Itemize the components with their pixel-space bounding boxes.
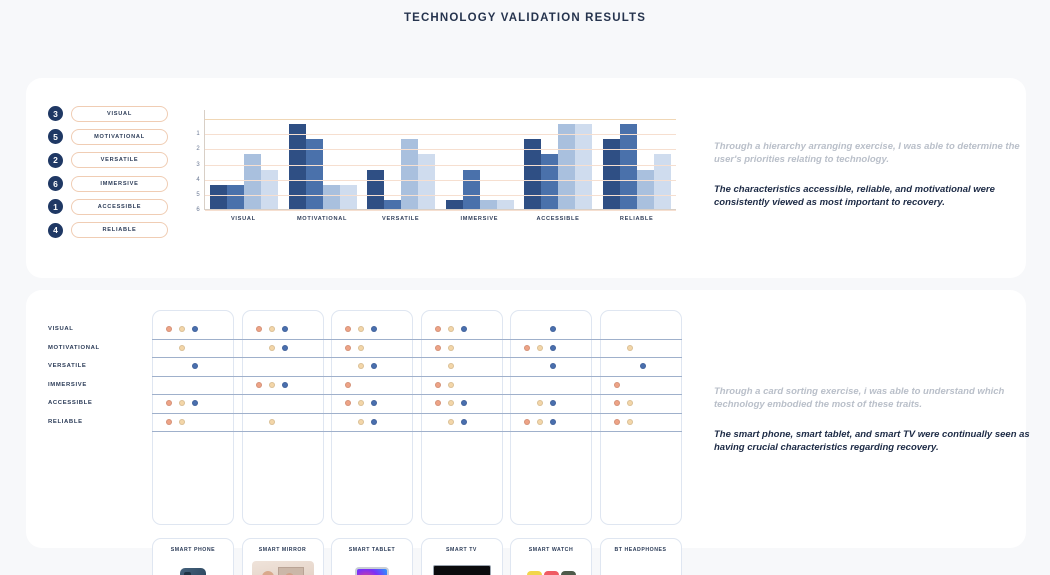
matrix-cell (524, 382, 556, 388)
card-sorting-results-card: VISUALMOTIVATIONALVERSATILEIMMERSIVEACCE… (26, 290, 1026, 548)
vote-dot-empty (614, 345, 620, 351)
x-axis-label: VERSATILE (361, 216, 440, 222)
vote-dot (550, 363, 556, 369)
x-axis-label: VISUAL (204, 216, 283, 222)
vote-dot (256, 382, 262, 388)
vote-dot-empty (640, 326, 646, 332)
vote-dot (282, 345, 288, 351)
vote-dot (524, 419, 530, 425)
vote-dot-empty (179, 382, 185, 388)
vote-dot (627, 419, 633, 425)
apple-watch-icon (527, 571, 576, 575)
product-image (339, 560, 405, 575)
vote-dot (269, 345, 275, 351)
vote-dot (345, 345, 351, 351)
vote-dot-empty (524, 326, 530, 332)
vote-dot (166, 326, 172, 332)
matrix-cell (166, 400, 198, 406)
television-icon (433, 565, 491, 575)
bar (210, 185, 227, 209)
product-name: BT HEADPHONES (614, 547, 666, 553)
x-axis-label: RELIABLE (597, 216, 676, 222)
trait-pill: VISUAL (71, 106, 168, 122)
vote-dot-empty (179, 363, 185, 369)
matrix-cell (614, 400, 646, 406)
vote-dot (640, 363, 646, 369)
matrix-cell (524, 419, 556, 425)
vote-dot (166, 419, 172, 425)
vote-dot (537, 419, 543, 425)
matrix-cell (256, 326, 288, 332)
matrix-cell (345, 363, 377, 369)
legend-row-visual: 3VISUAL (48, 102, 168, 125)
vote-dot-empty (627, 326, 633, 332)
matrix-row-divider (152, 394, 682, 395)
product-image (518, 560, 584, 575)
matrix-cell (614, 382, 646, 388)
chart-gridline (205, 210, 676, 211)
bar (289, 124, 306, 209)
vote-dot (461, 326, 467, 332)
trait-pill: MOTIVATIONAL (71, 129, 168, 145)
matrix-cell (435, 326, 467, 332)
vote-dot-empty (192, 345, 198, 351)
vote-dot (435, 345, 441, 351)
legend-row-reliable: 4RELIABLE (48, 218, 168, 241)
vote-dot (269, 382, 275, 388)
chart-y-tick: 1 (196, 131, 200, 137)
matrix-cell (614, 363, 646, 369)
bar (620, 124, 637, 209)
vote-dot-empty (192, 382, 198, 388)
chart-y-tick: 5 (196, 192, 200, 198)
matrix-cell (345, 326, 377, 332)
trait-pill: ACCESSIBLE (71, 199, 168, 215)
vote-dot-empty (269, 363, 275, 369)
vote-dot (614, 382, 620, 388)
vote-dot (371, 400, 377, 406)
matrix-row-label: RELIABLE (48, 413, 144, 432)
matrix-column[interactable] (510, 310, 592, 525)
matrix-row-label: IMMERSIVE (48, 376, 144, 395)
matrix-cell (435, 363, 467, 369)
x-axis-label: MOTIVATIONAL (283, 216, 362, 222)
rank-badge: 6 (48, 176, 63, 191)
matrix-row-divider (152, 413, 682, 414)
chart-plot-area: 123456 (204, 110, 676, 210)
x-axis-label: ACCESSIBLE (519, 216, 598, 222)
chart-y-tick: 3 (196, 162, 200, 168)
bar (227, 185, 244, 209)
vote-dot-empty (524, 400, 530, 406)
vote-dot-empty (166, 363, 172, 369)
product-card-smart-tv[interactable]: SMART TV (421, 538, 503, 575)
page-title: TECHNOLOGY VALIDATION RESULTS (0, 12, 1050, 24)
vote-dot-empty (640, 382, 646, 388)
vote-dot-empty (358, 382, 364, 388)
slide-canvas: TECHNOLOGY VALIDATION RESULTS 3VISUAL5MO… (0, 0, 1050, 575)
vote-dot (179, 400, 185, 406)
product-image (608, 560, 674, 575)
vote-dot-empty (524, 382, 530, 388)
vote-dot-empty (269, 400, 275, 406)
rank-badge: 2 (48, 153, 63, 168)
vote-dot-empty (282, 363, 288, 369)
matrix-column[interactable] (331, 310, 413, 525)
vote-dot (345, 400, 351, 406)
vote-dot (550, 326, 556, 332)
matrix-cell (345, 400, 377, 406)
vote-dot (192, 363, 198, 369)
product-card-smart-tablet[interactable]: SMART TABLET (331, 538, 413, 575)
vote-dot (550, 400, 556, 406)
matrix-cell (345, 382, 377, 388)
vote-dot-empty (461, 382, 467, 388)
matrix-cell (256, 419, 288, 425)
bar (367, 170, 384, 209)
matrix-cell (256, 363, 288, 369)
vote-dot (192, 400, 198, 406)
vote-dot-empty (524, 363, 530, 369)
vote-dot-empty (640, 419, 646, 425)
product-image (160, 560, 226, 575)
bar (384, 200, 401, 209)
vote-dot (537, 345, 543, 351)
vote-dot (192, 326, 198, 332)
product-name: SMART TV (446, 547, 477, 553)
vote-dot-empty (461, 345, 467, 351)
matrix-cell (614, 345, 646, 351)
product-image (429, 560, 495, 575)
vote-dot (282, 382, 288, 388)
vote-dot-empty (371, 382, 377, 388)
matrix-cell (256, 400, 288, 406)
chart-y-tick: 6 (196, 207, 200, 213)
bar (244, 154, 261, 209)
vote-dot-empty (640, 400, 646, 406)
vote-dot-empty (640, 345, 646, 351)
vote-dot (550, 419, 556, 425)
smart-mirror-icon (252, 561, 314, 575)
vote-dot (435, 326, 441, 332)
ipad-icon (355, 567, 389, 575)
matrix-cell (166, 363, 198, 369)
vote-dot (524, 345, 530, 351)
product-image (250, 560, 316, 575)
vote-dot-empty (256, 345, 262, 351)
matrix-cell (614, 419, 646, 425)
vote-dot-empty (550, 382, 556, 388)
matrix-cell (524, 363, 556, 369)
vote-dot (345, 326, 351, 332)
hierarchy-note-strong: The characteristics accessible, reliable… (714, 183, 1044, 210)
matrix-cell (256, 382, 288, 388)
bar (558, 124, 575, 209)
matrix-row-label: MOTIVATIONAL (48, 339, 144, 358)
chart-gridline (205, 180, 676, 181)
vote-dot (282, 326, 288, 332)
vote-dot (461, 400, 467, 406)
matrix-row-label: VERSATILE (48, 357, 144, 376)
bar (654, 154, 671, 209)
product-name: SMART TABLET (349, 547, 396, 553)
vote-dot (448, 345, 454, 351)
hierarchy-bar-chart: 123456 VISUALMOTIVATIONALVERSATILEIMMERS… (176, 110, 676, 250)
matrix-cell (524, 345, 556, 351)
vote-dot (448, 419, 454, 425)
x-axis-label: IMMERSIVE (440, 216, 519, 222)
cardsort-row-labels: VISUALMOTIVATIONALVERSATILEIMMERSIVEACCE… (48, 320, 144, 431)
vote-dot (461, 419, 467, 425)
vote-dot-empty (345, 419, 351, 425)
vote-dot (166, 400, 172, 406)
cardsort-note-strong: The smart phone, smart tablet, and smart… (714, 428, 1044, 455)
bar (575, 124, 592, 209)
matrix-cell (435, 345, 467, 351)
product-name: SMART MIRROR (259, 547, 307, 553)
vote-dot-empty (166, 382, 172, 388)
bar (418, 154, 435, 209)
hierarchy-note-muted: Through a hierarchy arranging exercise, … (714, 140, 1044, 167)
vote-dot (179, 326, 185, 332)
matrix-cell (524, 400, 556, 406)
vote-dot-empty (627, 363, 633, 369)
vote-dot-empty (256, 419, 262, 425)
trait-pill: RELIABLE (71, 222, 168, 238)
matrix-cell (435, 419, 467, 425)
matrix-cell (166, 382, 198, 388)
bar (497, 200, 514, 209)
vote-dot-empty (537, 382, 543, 388)
matrix-cell (524, 326, 556, 332)
matrix-cell (166, 345, 198, 351)
vote-dot-empty (256, 400, 262, 406)
vote-dot-empty (282, 400, 288, 406)
vote-dot (345, 382, 351, 388)
vote-dot-empty (435, 363, 441, 369)
bar (480, 200, 497, 209)
vote-dot-empty (537, 363, 543, 369)
hierarchy-notes: Through a hierarchy arranging exercise, … (714, 140, 1044, 210)
chart-x-axis-labels: VISUALMOTIVATIONALVERSATILEIMMERSIVEACCE… (204, 216, 676, 222)
vote-dot (179, 419, 185, 425)
matrix-column[interactable] (242, 310, 324, 525)
vote-dot (448, 400, 454, 406)
chart-gridline (205, 149, 676, 150)
vote-dot-empty (282, 419, 288, 425)
rank-badge: 4 (48, 223, 63, 238)
bar (446, 200, 463, 209)
rank-badge: 5 (48, 129, 63, 144)
matrix-row-divider (152, 357, 682, 358)
vote-dot-empty (614, 363, 620, 369)
vote-dot-empty (435, 419, 441, 425)
legend-row-versatile: 2VERSATILE (48, 149, 168, 172)
vote-dot (627, 345, 633, 351)
vote-dot-empty (256, 363, 262, 369)
vote-dot (269, 326, 275, 332)
product-card-smart-phone[interactable]: SMART PHONE (152, 538, 234, 575)
matrix-cell (345, 419, 377, 425)
product-card-smart-mirror[interactable]: SMART MIRROR (242, 538, 324, 575)
chart-y-tick: 2 (196, 146, 200, 152)
chart-gridline (205, 119, 676, 120)
matrix-cell (435, 382, 467, 388)
bar (637, 170, 654, 209)
matrix-column[interactable] (152, 310, 234, 525)
legend-row-motivational: 5MOTIVATIONAL (48, 125, 168, 148)
vote-dot (358, 400, 364, 406)
vote-dot (614, 419, 620, 425)
product-name: SMART PHONE (171, 547, 215, 553)
vote-dot (358, 326, 364, 332)
vote-dot-empty (461, 363, 467, 369)
product-name: SMART WATCH (529, 547, 574, 553)
vote-dot (358, 363, 364, 369)
vote-dot (371, 363, 377, 369)
legend-row-immersive: 6IMMERSIVE (48, 172, 168, 195)
vote-dot (256, 326, 262, 332)
vote-dot (614, 400, 620, 406)
rank-badge: 1 (48, 199, 63, 214)
matrix-cell (166, 419, 198, 425)
vote-dot (371, 419, 377, 425)
vote-dot (627, 400, 633, 406)
hierarchy-results-card: 3VISUAL5MOTIVATIONAL2VERSATILE6IMMERSIVE… (26, 78, 1026, 278)
vote-dot (358, 419, 364, 425)
chart-gridline (205, 134, 676, 135)
rank-badge: 3 (48, 106, 63, 121)
trait-pill: IMMERSIVE (71, 176, 168, 192)
matrix-cell (435, 400, 467, 406)
product-card-bt-headphones[interactable]: BT HEADPHONES (600, 538, 682, 575)
vote-dot-empty (627, 382, 633, 388)
matrix-row-divider (152, 376, 682, 377)
vote-dot-empty (537, 326, 543, 332)
hierarchy-legend: 3VISUAL5MOTIVATIONAL2VERSATILE6IMMERSIVE… (48, 102, 168, 242)
chart-gridline (205, 195, 676, 196)
matrix-cell (614, 326, 646, 332)
cardsort-note-muted: Through a card sorting exercise, i was a… (714, 385, 1044, 412)
vote-dot (435, 400, 441, 406)
matrix-row-label: VISUAL (48, 320, 144, 339)
vote-dot (448, 363, 454, 369)
matrix-column[interactable] (600, 310, 682, 525)
vote-dot (179, 345, 185, 351)
matrix-cell (256, 345, 288, 351)
matrix-cell (345, 345, 377, 351)
vote-dot (448, 326, 454, 332)
bar (340, 185, 357, 209)
bar (541, 154, 558, 209)
matrix-row-divider (152, 431, 682, 432)
vote-dot (448, 382, 454, 388)
vote-dot-empty (371, 345, 377, 351)
vote-dot-empty (192, 419, 198, 425)
bar (261, 170, 278, 209)
bar (323, 185, 340, 209)
matrix-column[interactable] (421, 310, 503, 525)
vote-dot (435, 382, 441, 388)
chart-y-tick: 4 (196, 177, 200, 183)
chart-gridline (205, 165, 676, 166)
matrix-row-divider (152, 339, 682, 340)
vote-dot-empty (614, 326, 620, 332)
vote-dot-empty (345, 363, 351, 369)
product-card-smart-watch[interactable]: SMART WATCH (510, 538, 592, 575)
iphone-icon (180, 568, 206, 575)
vote-dot-empty (166, 345, 172, 351)
cardsort-notes: Through a card sorting exercise, i was a… (714, 385, 1044, 455)
vote-dot (371, 326, 377, 332)
matrix-row-label: ACCESSIBLE (48, 394, 144, 413)
legend-row-accessible: 1ACCESSIBLE (48, 195, 168, 218)
matrix-cell (166, 326, 198, 332)
vote-dot (269, 419, 275, 425)
trait-pill: VERSATILE (71, 152, 168, 168)
vote-dot (358, 345, 364, 351)
bar (463, 170, 480, 209)
vote-dot (537, 400, 543, 406)
vote-dot (550, 345, 556, 351)
